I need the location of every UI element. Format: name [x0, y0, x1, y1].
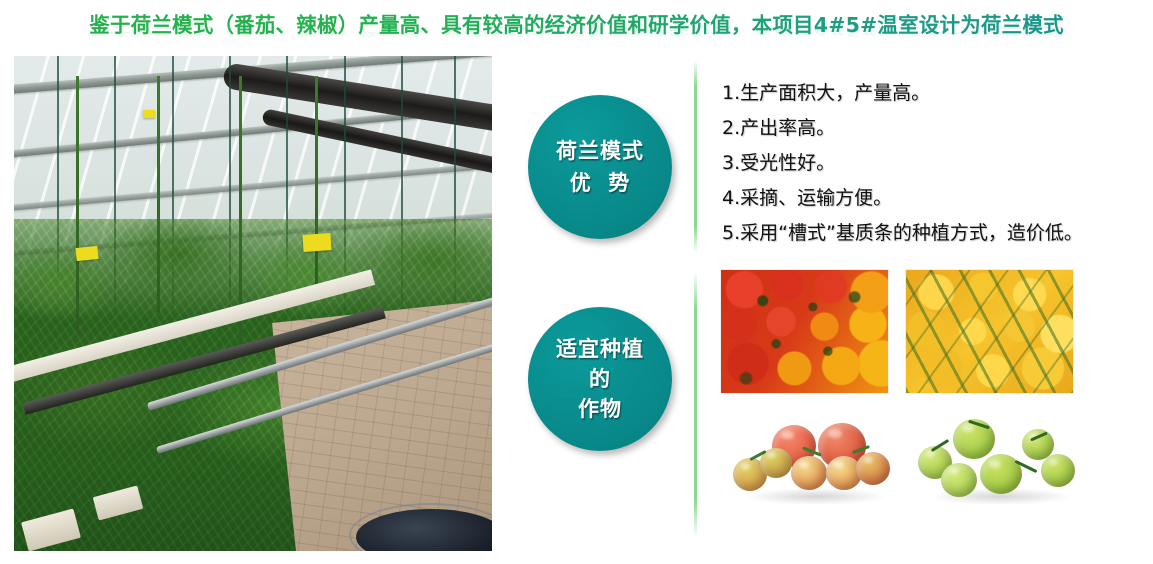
list-item: 2.产出率高。 — [722, 111, 1137, 146]
badge-line: 优 势 — [570, 167, 631, 199]
tomato-stem — [157, 76, 160, 314]
greenhouse-photo — [14, 56, 492, 551]
yellow-sticky-trap — [76, 245, 99, 260]
badge-dutch-model-advantages[interactable]: 荷兰模式 优 势 — [528, 95, 672, 239]
crop-photo-red-orange-tomatoes — [721, 270, 888, 393]
badge-line: 的 — [589, 364, 611, 394]
tomato-fruit-halved — [791, 456, 827, 490]
green-tomato-fruit — [941, 463, 977, 497]
advantages-list: 1.生产面积大，产量高。 2.产出率高。 3.受光性好。 4.采摘、运输方便。 … — [722, 76, 1137, 251]
badge-line: 荷兰模式 — [556, 135, 644, 167]
crop-photo-striped-tomatoes — [718, 408, 910, 513]
badge-line: 作物 — [578, 394, 622, 424]
tomato-calyxes — [721, 270, 888, 393]
list-item: 4.采摘、运输方便。 — [722, 181, 1137, 216]
list-item: 5.采用“槽式”基质条的种植方式，造价低。 — [722, 216, 1137, 251]
photo-shadow — [745, 488, 887, 505]
yellow-sticky-trap — [303, 233, 332, 252]
badge-suitable-crops[interactable]: 适宜种植 的 作物 — [528, 307, 672, 451]
crop-photo-green-tomatoes — [903, 408, 1095, 513]
tomato-fruit — [856, 452, 890, 485]
vertical-divider-bottom — [694, 272, 697, 537]
crop-photo-yellow-cherry-tomatoes — [906, 270, 1073, 393]
green-tomato-fruit — [1041, 454, 1075, 487]
page-title: 鉴于荷兰模式（番茄、辣椒）产量高、具有较高的经济价值和研学价值，本项目4#5#温… — [0, 10, 1153, 40]
tomato-stem — [76, 76, 79, 333]
list-item: 1.生产面积大，产量高。 — [722, 76, 1137, 111]
badge-line: 适宜种植 — [556, 334, 644, 364]
tomato-stem — [315, 76, 318, 299]
yellow-sticky-trap — [143, 110, 155, 118]
list-item: 3.受光性好。 — [722, 146, 1137, 181]
tomato-vines — [906, 270, 1073, 393]
vertical-divider-top — [694, 60, 697, 253]
